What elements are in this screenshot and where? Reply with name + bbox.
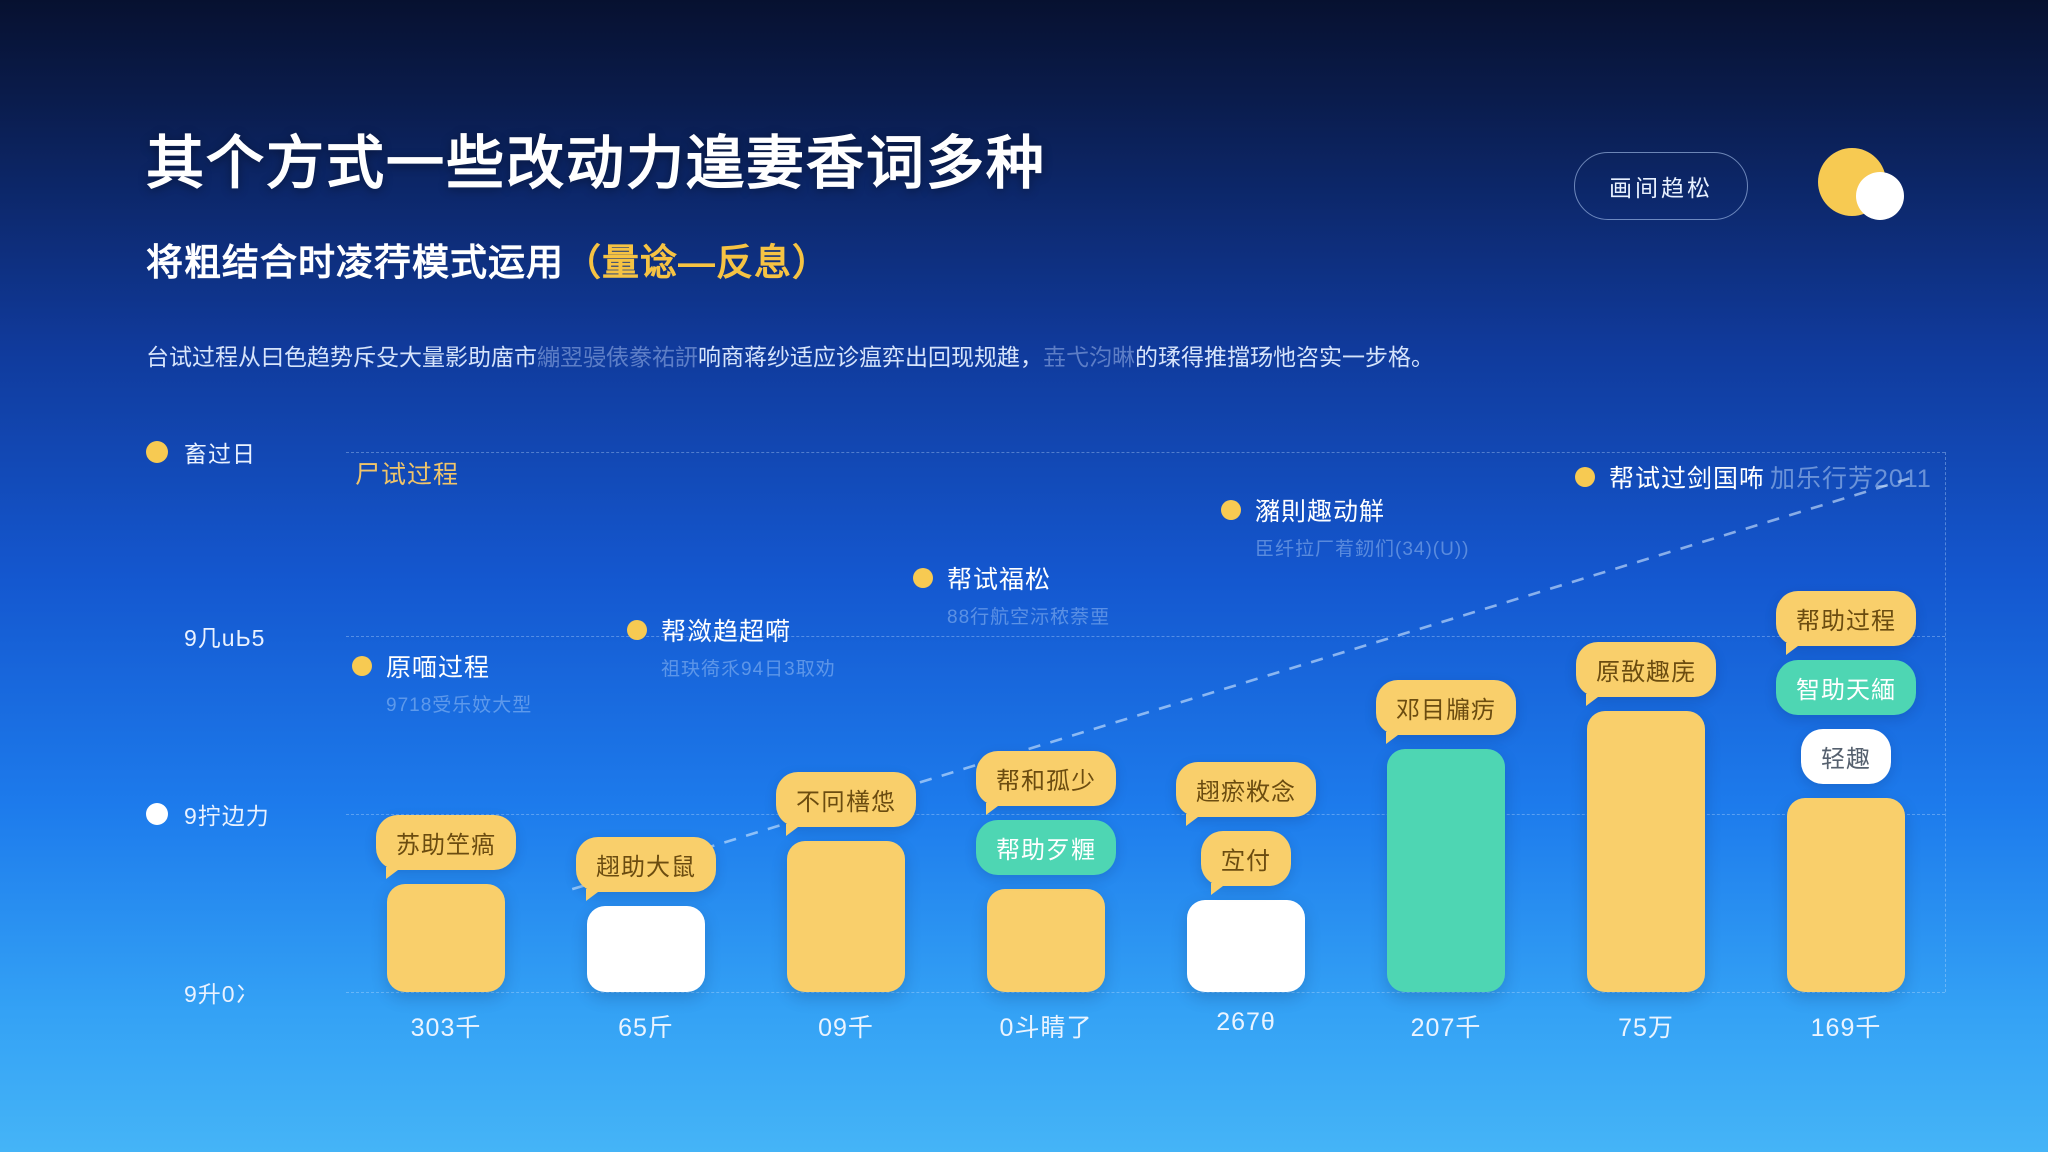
grid-line bbox=[346, 814, 1945, 815]
bar-label-bubble: 苏助笁瘑 bbox=[376, 815, 516, 870]
bar-column[interactable]: 苏助笁瘑 bbox=[387, 815, 505, 992]
paragraph-part-2: 响商蒋纱适应诊瘟弈出回现规趡， bbox=[698, 344, 1043, 370]
annotation-sublabel: 88行航空沶秾萘垔 bbox=[947, 602, 1110, 629]
bar-label-bubble: 智助天緬 bbox=[1776, 660, 1916, 715]
annotation-dot-icon bbox=[1221, 500, 1241, 520]
annotation-label: 瀦則趣动觧 bbox=[1255, 492, 1385, 528]
x-axis-tick-label: 267θ bbox=[1216, 1008, 1276, 1037]
bar-column[interactable]: 原敔趣庑 bbox=[1587, 642, 1705, 992]
annotation-sublabel: 祖玦徛乑94日3取劝 bbox=[661, 654, 836, 681]
bar[interactable] bbox=[387, 884, 505, 992]
bar[interactable] bbox=[1387, 749, 1505, 992]
annotation-sublabel: 9718受乐妏大型 bbox=[386, 690, 532, 717]
slide-canvas: 其个方式一些改动力遑妻香词多种 将粗结合时凌荇模式运用（量谂—反息） 台试过程从… bbox=[0, 0, 2048, 1152]
chart-annotation: 原喕过程9718受乐妏大型 bbox=[352, 648, 532, 717]
y-axis-marker-dot bbox=[146, 441, 168, 463]
chart-annotation: 帮试福松88行航空沶秾萘垔 bbox=[913, 560, 1110, 629]
page-subtitle: 将粗结合时凌荇模式运用（量谂—反息） bbox=[146, 232, 830, 286]
bar[interactable] bbox=[787, 841, 905, 992]
x-axis-tick-label: 303千 bbox=[411, 1008, 482, 1044]
annotation-dot-icon bbox=[627, 620, 647, 640]
annotation-dot-icon bbox=[1575, 467, 1595, 487]
annotation-sublabel: 臣纤拉厂䒴釰们(34)(U)) bbox=[1255, 534, 1470, 561]
annotation-label: 原喕过程 bbox=[386, 648, 490, 684]
bar[interactable] bbox=[1587, 711, 1705, 992]
grid-line bbox=[346, 636, 1945, 637]
annotation-label: 尸试过程 bbox=[355, 455, 459, 491]
bar-label-bubble: 趐瘀敉念 bbox=[1176, 762, 1316, 817]
x-axis-tick-label: 169千 bbox=[1811, 1008, 1882, 1044]
bar[interactable] bbox=[1187, 900, 1305, 992]
bar-column[interactable]: 邓目牖疠 bbox=[1387, 680, 1505, 992]
bar-label-bubble: 帮助过程 bbox=[1776, 591, 1916, 646]
bar-column[interactable]: 帮助过程智助天緬轻趣 bbox=[1787, 591, 1905, 992]
bar-label-bubble: 邓目牖疠 bbox=[1376, 680, 1516, 735]
bar-chart: 畜过日9几uЬ59拧边力9升0冫 苏助笁瘑趐助大鼠不冋橏怹帮和孤少帮助歹糎趐瘀敉… bbox=[146, 452, 1946, 992]
annotation-label: 帮潋趋超嗬 bbox=[661, 612, 791, 648]
subtitle-main-text: 将粗结合时凌荇模式运用 bbox=[146, 242, 564, 283]
x-axis-tick-label: 207千 bbox=[1411, 1008, 1482, 1044]
bar-label-bubble: 帮和孤少 bbox=[976, 751, 1116, 806]
x-axis-tick-label: 75万 bbox=[1618, 1008, 1674, 1044]
plot-area: 苏助笁瘑趐助大鼠不冋橏怹帮和孤少帮助歹糎趐瘀敉念宐付邓目牖疠原敔趣庑帮助过程智助… bbox=[346, 452, 1946, 992]
y-axis-tick-label: 9升0冫 bbox=[184, 975, 260, 1009]
chart-annotation: 帮潋趋超嗬祖玦徛乑94日3取劝 bbox=[627, 612, 836, 681]
paragraph-part-1: 台试过程从曰色趋势斥殳大量影助庿市 bbox=[146, 344, 537, 370]
y-axis-tick-label: 9拧边力 bbox=[184, 797, 270, 831]
subtitle-accent-text: （量谂—反息） bbox=[564, 242, 830, 283]
chart-annotation: 尸试过程 bbox=[355, 455, 459, 491]
bar-label-bubble: 原敔趣庑 bbox=[1576, 642, 1716, 697]
annotation-dot-icon bbox=[352, 656, 372, 676]
chart-annotation: 帮试过剑国咘 bbox=[1575, 459, 1765, 495]
bar-column[interactable]: 帮和孤少帮助歹糎 bbox=[987, 751, 1105, 992]
bar-column[interactable]: 趐瘀敉念宐付 bbox=[1187, 762, 1305, 992]
chart-annotation: 加乐行芳2011 bbox=[1770, 459, 1932, 495]
annotation-label: 帮试过剑国咘 bbox=[1609, 459, 1765, 495]
bar-label-bubble: 趐助大鼠 bbox=[576, 837, 716, 892]
y-axis-tick-label: 畜过日 bbox=[184, 435, 256, 469]
x-axis-tick-label: 09千 bbox=[818, 1008, 874, 1044]
page-title: 其个方式一些改动力遑妻香词多种 bbox=[146, 116, 1046, 200]
bar-label-bubble: 帮助歹糎 bbox=[976, 820, 1116, 875]
brand-logo-icon bbox=[1818, 148, 1918, 218]
bar-column[interactable]: 不冋橏怹 bbox=[787, 772, 905, 992]
bar-label-bubble: 宐付 bbox=[1201, 831, 1291, 886]
chart-annotation: 瀦則趣动觧臣纤拉厂䒴釰们(34)(U)) bbox=[1221, 492, 1470, 561]
paragraph-ghost-1: 繃翌骎俵豢祐訮 bbox=[537, 344, 698, 370]
period-filter-button[interactable]: 画间趋松 bbox=[1574, 152, 1748, 220]
paragraph-ghost-2: 壵弋汮晽 bbox=[1043, 344, 1135, 370]
bar[interactable] bbox=[1787, 798, 1905, 992]
y-axis-tick-label: 9几uЬ5 bbox=[184, 619, 265, 653]
bar-label-bubble: 不冋橏怹 bbox=[776, 772, 916, 827]
bar[interactable] bbox=[987, 889, 1105, 992]
y-axis-marker-dot bbox=[146, 803, 168, 825]
annotation-label: 加乐行芳2011 bbox=[1770, 459, 1932, 495]
grid-line bbox=[346, 992, 1945, 993]
bar[interactable] bbox=[587, 906, 705, 992]
x-axis-tick-label: 65斤 bbox=[618, 1008, 674, 1044]
bar-column[interactable]: 趐助大鼠 bbox=[587, 837, 705, 992]
logo-circle-white bbox=[1856, 172, 1904, 220]
x-axis-tick-label: 0斗睛了 bbox=[1000, 1008, 1093, 1044]
bar-label-bubble: 轻趣 bbox=[1801, 729, 1891, 784]
annotation-dot-icon bbox=[913, 568, 933, 588]
paragraph-part-3: 的瑈得推擋玚忚咨实一步格。 bbox=[1135, 344, 1434, 370]
annotation-label: 帮试福松 bbox=[947, 560, 1051, 596]
grid-line bbox=[346, 452, 1945, 453]
body-paragraph: 台试过程从曰色趋势斥殳大量影助庿市繃翌骎俵豢祐訮响商蒋纱适应诊瘟弈出回现规趡，壵… bbox=[146, 340, 1826, 375]
